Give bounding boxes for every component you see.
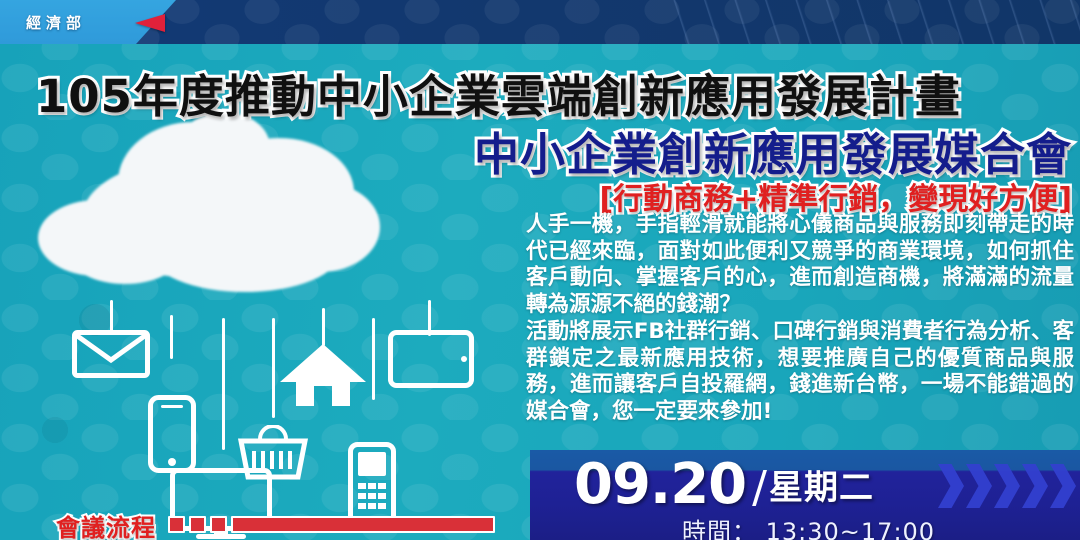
- event-date-panel: 09.20 / 星期二 時間： 13:30~17:00: [530, 450, 1080, 540]
- wire-feature-phone: [372, 318, 375, 400]
- chevron-right-icon: [938, 464, 964, 508]
- body-copy: 人手一機，手指輕滑就能將心儀商品與服務即刻帶走的時代已經來臨，面對如此便利又競爭…: [526, 212, 1074, 426]
- body-paragraph-1: 人手一機，手指輕滑就能將心儀商品與服務即刻帶走的時代已經來臨，面對如此便利又競爭…: [526, 212, 1074, 318]
- ministry-header-bar: 經濟部: [0, 0, 1080, 44]
- chevron-right-icon: [1050, 464, 1076, 508]
- page-title-line1: 105年度推動中小企業雲端創新應用發展計畫: [36, 60, 961, 125]
- house-icon: [278, 340, 368, 410]
- wire-smartphone: [170, 315, 173, 359]
- date-separator: /: [752, 464, 767, 512]
- chevron-group: [938, 464, 1076, 508]
- envelope-icon: [72, 330, 150, 378]
- chevron-right-icon: [1022, 464, 1048, 508]
- wire-envelope: [110, 300, 113, 332]
- ministry-label: 經濟部: [26, 12, 86, 33]
- red-triangle-icon: [135, 14, 165, 32]
- agenda-bar-segment: [189, 516, 206, 533]
- event-date: 09.20: [574, 456, 746, 514]
- poster-root: 經濟部 105年度推動中小企業雲端創新應用發展計畫 中小企業創新應用發展媒合會 …: [0, 0, 1080, 540]
- smartphone-icon: [148, 395, 196, 473]
- agenda-bar-segment: [231, 516, 495, 533]
- agenda-bar-segment: [168, 516, 185, 533]
- wire-monitor: [222, 318, 225, 450]
- header-light-streaks: [660, 0, 1080, 44]
- shopping-basket-icon: [238, 425, 308, 483]
- event-date-line: 09.20 / 星期二: [574, 456, 874, 514]
- chevron-right-icon: [994, 464, 1020, 508]
- chevron-right-icon: [966, 464, 992, 508]
- agenda-progress-bar: [168, 516, 495, 533]
- body-paragraph-2: 活動將展示FB社群行銷、口碑行銷與消費者行為分析、客群鎖定之最新應用技術，想要推…: [526, 319, 1074, 425]
- tablet-icon: [388, 330, 474, 388]
- agenda-label: 會議流程: [56, 508, 156, 540]
- wire-basket: [272, 318, 275, 418]
- event-time: 時間： 13:30~17:00: [682, 512, 935, 540]
- event-weekday: 星期二: [769, 466, 874, 510]
- agenda-tag: 會議流程: [56, 508, 495, 540]
- agenda-bar-segment: [210, 516, 227, 533]
